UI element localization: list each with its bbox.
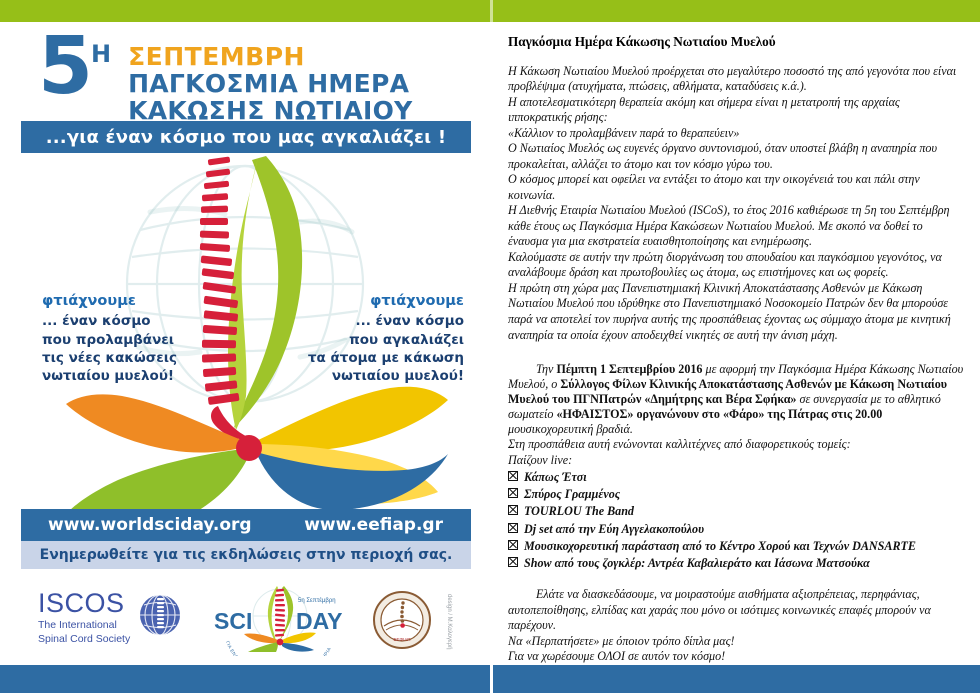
poster-panel: 5 Η ΣΕΠΤΕΜΒΡΗ ΠΑΓΚΟΣΜΙΑ ΗΜΕΡΑ ΚΑΚΩΣΗΣ ΝΩ… xyxy=(0,22,490,665)
iscos-logo-text: ISCOS The International Spinal Cord Soci… xyxy=(38,590,130,646)
spacer-before-closing xyxy=(508,572,964,587)
intro-block: Η Κάκωση Νωτιαίου Μυελού προέρχεται στο … xyxy=(508,64,964,344)
event-part-1: Την xyxy=(536,362,556,376)
event-block: Την Πέμπτη 1 Σεπτεμβρίου 2016 με αφορμή … xyxy=(508,362,964,468)
slogan-right-line-3: τα άτομα με κάκωση xyxy=(308,349,464,367)
bottom-bar-gap xyxy=(490,665,493,693)
event-part-4: μουσικοχορευτική βραδιά. xyxy=(508,422,633,436)
slogan-right: φτιάχνουμε ... έναν κόσμο που αγκαλιάζει… xyxy=(308,292,464,385)
list-item: TOURLOU The Band xyxy=(508,503,964,520)
sciday-logo: SCI DAY 5η Σεπτέμβρη ΓΙΑ ΕΝΑ ΚΟΣΜΟ ΜΕ ΘΕ… xyxy=(210,584,350,656)
info-band: Ενημερωθείτε για τις εκδηλώσεις στην περ… xyxy=(21,541,471,569)
leaves xyxy=(66,387,448,512)
performer-name: Σπύρος Γραμμένος xyxy=(524,486,620,503)
iscos-subtitle-2: Spinal Cord Society xyxy=(38,633,130,645)
iscos-logo: ISCOS The International Spinal Cord Soci… xyxy=(38,590,182,646)
intro-paragraph-4: Ο Νωτιαίος Μυελός ως ευγενές όργανο συντ… xyxy=(508,141,964,172)
url-band: www.worldsciday.org www.eefiap.gr xyxy=(21,509,471,541)
logo-strip: ISCOS The International Spinal Cord Soci… xyxy=(0,582,490,662)
eefiap-seal-logo: ΕΕΦΙΑΠ xyxy=(372,590,432,650)
list-item: Σπύρος Γραμμένος xyxy=(508,486,964,503)
eefiap-seal-label: ΕΕΦΙΑΠ xyxy=(393,637,410,642)
slogan-left-line-2: που προλαμβάνει xyxy=(42,331,177,349)
event-line-2: Στη προσπάθεια αυτή ενώνονται καλλιτέχνε… xyxy=(508,437,964,453)
checkbox-icon xyxy=(508,523,518,533)
design-credit: design / Μ.Καλογερή xyxy=(446,594,452,649)
tagline-band: ...για έναν κόσμο που μας αγκαλιάζει ! xyxy=(21,121,471,153)
slogan-right-line-2: που αγκαλιάζει xyxy=(308,331,464,349)
day-ordinal: Η xyxy=(91,40,111,68)
intro-paragraph-5: Ο κόσμος μπορεί και οφείλει να εντάξει τ… xyxy=(508,172,964,203)
headline-month: ΣΕΠΤΕΜΒΡΗ xyxy=(128,43,490,70)
top-bar-left-segment xyxy=(0,0,490,22)
checkbox-icon xyxy=(508,471,518,481)
sciday-sci-text: SCI xyxy=(214,608,252,634)
top-accent-bar xyxy=(0,0,980,22)
bottom-bar-right-segment xyxy=(493,665,980,693)
slogan-left-line-1: ... έναν κόσμο xyxy=(42,312,177,330)
top-bar-right-segment xyxy=(493,0,980,22)
event-venue-time: «ΗΦΑΙΣΤΟΣ» οργανώνουν στο «Φάρο» της Πάτ… xyxy=(556,407,882,421)
event-line-3: Παίζουν live: xyxy=(508,453,964,469)
performer-name: Show από τους ζογκλέρ: Αντρέα Καβαλιεράτ… xyxy=(524,555,870,572)
list-item: Dj set από την Εύη Αγγελακοπούλου xyxy=(508,521,964,538)
slogan-right-head: φτιάχνουμε xyxy=(308,292,464,311)
intro-paragraph-3: «Κάλλιον το προλαμβάνειν παρά το θεραπεύ… xyxy=(508,126,964,142)
top-bar-gap xyxy=(490,0,493,22)
performer-list: Κάπως Έτσι Σπύρος Γραμμένος TOURLOU The … xyxy=(508,469,964,572)
headline-title-line-1: ΠΑΓΚΟΣΜΙΑ ΗΜΕΡΑ xyxy=(128,70,490,97)
intro-paragraph-8: Η πρώτη στη χώρα μας Πανεπιστημιακή Κλιν… xyxy=(508,281,964,343)
slogan-left-line-4: νωτιαίου μυελού! xyxy=(42,367,177,385)
url-eefiap[interactable]: www.eefiap.gr xyxy=(304,515,443,535)
document-panel: Παγκόσμια Ημέρα Κάκωσης Νωτιαίου Μυελού … xyxy=(494,22,980,665)
slogan-left: φτιάχνουμε ... έναν κόσμο που προλαμβάνε… xyxy=(42,292,177,385)
closing-paragraph-3: Για να χωρέσουμε ΟΛΟΙ σε αυτόν τον κόσμο… xyxy=(508,649,964,665)
list-item: Show από τους ζογκλέρ: Αντρέα Καβαλιεράτ… xyxy=(508,555,964,572)
document-title: Παγκόσμια Ημέρα Κάκωσης Νωτιαίου Μυελού xyxy=(508,34,964,51)
bottom-accent-bar xyxy=(0,665,980,693)
slogan-left-head: φτιάχνουμε xyxy=(42,292,177,311)
slogan-right-line-4: νωτιαίου μυελού! xyxy=(308,367,464,385)
checkbox-icon xyxy=(508,557,518,567)
info-band-text: Ενημερωθείτε για τις εκδηλώσεις στην περ… xyxy=(40,547,453,563)
performer-name: Κάπως Έτσι xyxy=(524,469,587,486)
list-item: Κάπως Έτσι xyxy=(508,469,964,486)
spacer-before-event xyxy=(508,343,964,362)
intro-paragraph-7: Καλούμαστε σε αυτήν την πρώτη διοργάνωση… xyxy=(508,250,964,281)
performer-name: TOURLOU The Band xyxy=(524,503,634,520)
url-worldsciday[interactable]: www.worldsciday.org xyxy=(48,515,252,535)
sciday-day-text: DAY xyxy=(296,608,342,634)
performer-name: Μουσικοχορευτική παράσταση από το Κέντρο… xyxy=(524,538,916,555)
slogan-right-line-1: ... έναν κόσμο xyxy=(308,312,464,330)
list-item: Μουσικοχορευτική παράσταση από το Κέντρο… xyxy=(508,538,964,555)
intro-paragraph-1: Η Κάκωση Νωτιαίου Μυελού προέρχεται στο … xyxy=(508,64,964,95)
day-number: 5 xyxy=(38,34,90,99)
tagline-text: ...για έναν κόσμο που μας αγκαλιάζει ! xyxy=(46,127,447,148)
event-date: Πέμπτη 1 Σεπτεμβρίου 2016 xyxy=(556,362,702,376)
performer-name: Dj set από την Εύη Αγγελακοπούλου xyxy=(524,521,704,538)
intro-paragraph-2: Η αποτελεσματικότερη θεραπεία ακόμη και … xyxy=(508,95,964,126)
event-announcement: Την Πέμπτη 1 Σεπτεμβρίου 2016 με αφορμή … xyxy=(508,362,964,437)
slogan-left-line-3: τις νέες κακώσεις xyxy=(42,349,177,367)
sciday-date-text: 5η Σεπτέμβρη xyxy=(298,597,336,604)
globe-spine-icon xyxy=(138,593,182,642)
checkbox-icon xyxy=(508,505,518,515)
checkbox-icon xyxy=(508,488,518,498)
bottom-bar-left-segment xyxy=(0,665,490,693)
green-flame-shape xyxy=(228,156,302,430)
iscos-subtitle-1: The International xyxy=(38,619,130,631)
checkbox-icon xyxy=(508,540,518,550)
closing-paragraph-2: Να «Περπατήσετε» με όποιον τρόπο δίπλα μ… xyxy=(508,634,964,650)
iscos-wordmark: ISCOS xyxy=(38,590,130,617)
closing-paragraph-1: Ελάτε να διασκεδάσουμε, να μοιραστούμε α… xyxy=(508,587,964,634)
poster-page: 5 Η ΣΕΠΤΕΜΒΡΗ ΠΑΓΚΟΣΜΙΑ ΗΜΕΡΑ ΚΑΚΩΣΗΣ ΝΩ… xyxy=(0,0,980,693)
intro-paragraph-6: Η Διεθνής Εταιρία Νωτιαίου Μυελού (ISCoS… xyxy=(508,203,964,250)
